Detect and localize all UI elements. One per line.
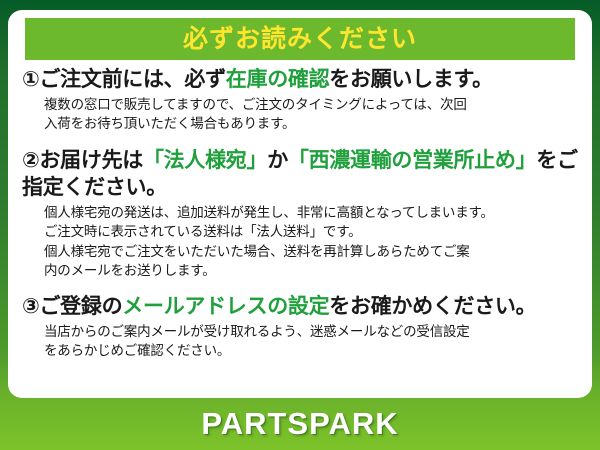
page-title: 必ずお読みください xyxy=(183,27,417,52)
notice-item-1-heading: ①ご注文前には、必ず在庫の確認をお願いします。 xyxy=(22,66,582,93)
notice-item-3-heading-before: ご登録の xyxy=(39,295,122,318)
notice-item-1-subtext: 複数の窓口で販売してますので、ご注文のタイミングによっては、次回 入荷をお待ち頂… xyxy=(22,95,582,133)
notice-item-2: ②お届け先は「法人様宛」か「西濃運輸の営業所止め」をご指定ください。 個人様宅宛… xyxy=(8,147,592,280)
notice-item-2-heading-highlight2: 「西濃運輸の営業所止め」 xyxy=(288,149,536,172)
notice-item-3: ③ご登録のメールアドレスの設定をお確かめください。 当店からのご案内メールが受け… xyxy=(8,293,592,361)
notice-item-2-subline-3: 個人様宅宛でご注文をいただいた場合、送料を再計算しあらためてご案 xyxy=(44,242,582,261)
notice-item-1-heading-before: ご注文前には、必ず xyxy=(39,68,225,91)
notice-item-1-subline-2: 入荷をお待ち頂いただく場合もあります。 xyxy=(44,114,582,133)
title-banner: 必ずお読みください xyxy=(25,18,575,60)
notice-card: 必ずお読みください ①ご注文前には、必ず在庫の確認をお願いします。 複数の窓口で… xyxy=(0,0,600,450)
notice-item-1-marker: ① xyxy=(22,68,39,91)
notice-item-2-heading: ②お届け先は「法人様宛」か「西濃運輸の営業所止め」をご指定ください。 xyxy=(22,147,582,202)
notice-item-2-heading-before: お届け先は xyxy=(39,149,143,172)
footer-brand-bar: PARTSPARK xyxy=(0,398,600,450)
notice-item-3-heading-after: をお確かめください。 xyxy=(329,295,536,318)
notice-item-3-heading-highlight: メールアドレスの設定 xyxy=(122,295,329,318)
notice-item-3-heading: ③ご登録のメールアドレスの設定をお確かめください。 xyxy=(22,293,582,320)
notice-item-3-marker: ③ xyxy=(22,295,39,318)
notice-item-1: ①ご注文前には、必ず在庫の確認をお願いします。 複数の窓口で販売してますので、ご… xyxy=(8,66,592,134)
notice-panel: 必ずお読みください ①ご注文前には、必ず在庫の確認をお願いします。 複数の窓口で… xyxy=(8,10,592,398)
notice-item-3-subline-2: をあらかじめご確認ください。 xyxy=(44,341,582,360)
notice-item-1-subline-1: 複数の窓口で販売してますので、ご注文のタイミングによっては、次回 xyxy=(44,95,582,114)
notice-item-1-heading-highlight: 在庫の確認 xyxy=(226,68,330,91)
notice-item-3-subtext: 当店からのご案内メールが受け取れるよう、迷惑メールなどの受信設定 をあらかじめご… xyxy=(22,322,582,360)
notice-item-2-marker: ② xyxy=(22,149,39,172)
notice-item-2-subline-2: ご注文時に表示されている送料は「法人送料」です。 xyxy=(44,222,582,241)
notice-item-2-subline-1: 個人様宅宛の発送は、追加送料が発生し、非常に高額となってしまいます。 xyxy=(44,203,582,222)
notice-item-2-subtext: 個人様宅宛の発送は、追加送料が発生し、非常に高額となってしまいます。 ご注文時に… xyxy=(22,203,582,280)
brand-logo-text: PARTSPARK xyxy=(201,406,398,442)
notice-item-3-subline-1: 当店からのご案内メールが受け取れるよう、迷惑メールなどの受信設定 xyxy=(44,322,582,341)
notice-item-2-heading-middle: か xyxy=(267,149,288,172)
notice-item-1-heading-after: をお願いします。 xyxy=(329,68,493,91)
notice-items-list: ①ご注文前には、必ず在庫の確認をお願いします。 複数の窓口で販売してますので、ご… xyxy=(8,66,592,360)
notice-item-2-heading-highlight: 「法人様宛」 xyxy=(143,149,267,172)
notice-item-2-subline-4: 内のメールをお送りします。 xyxy=(44,261,582,280)
